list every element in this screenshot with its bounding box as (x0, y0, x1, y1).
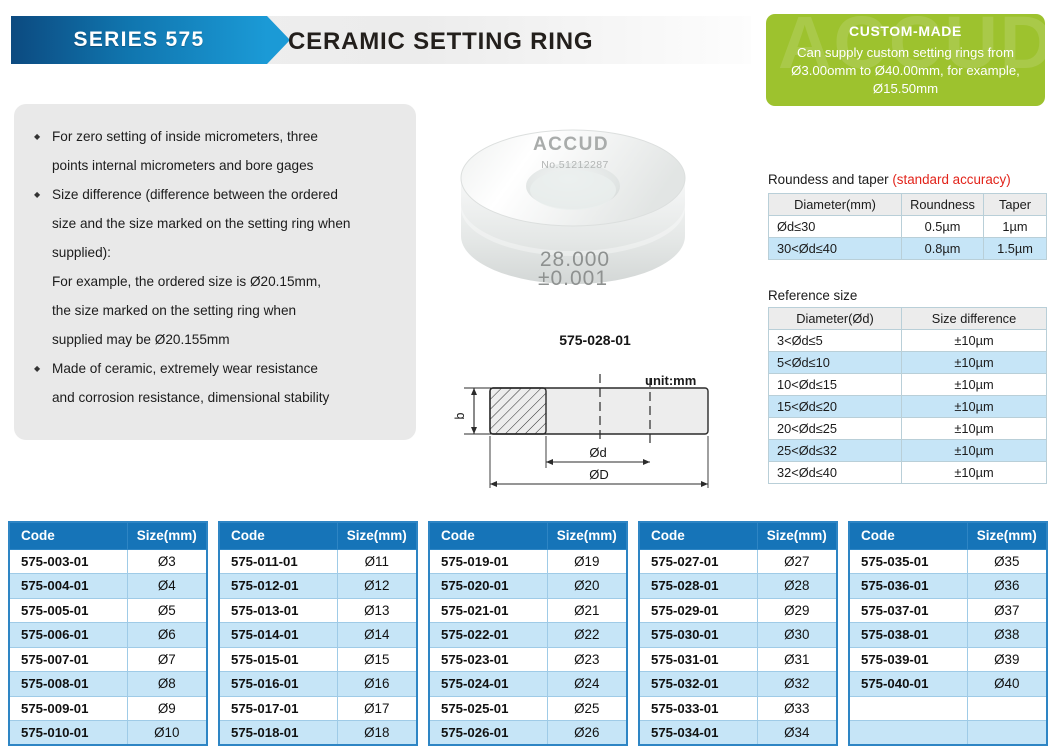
product-size-cell: Ø6 (127, 623, 207, 648)
product-size-cell: Ø17 (337, 696, 417, 721)
table-cell: 1.5µm (984, 238, 1047, 260)
table-row[interactable]: 575-031-01Ø31 (639, 647, 837, 672)
table-row: 15<Ød≤20±10µm (769, 396, 1047, 418)
product-size-cell: Ø35 (967, 549, 1047, 574)
table-cell: ±10µm (902, 374, 1047, 396)
table-row[interactable]: 575-024-01Ø24 (429, 672, 627, 697)
table-cell: 15<Ød≤20 (769, 396, 902, 418)
table-cell: ±10µm (902, 440, 1047, 462)
table-header-row: CodeSize(mm) (9, 522, 207, 549)
feature-list: For zero setting of inside micrometers, … (14, 104, 416, 440)
roundness-title-text: Roundess and taper (768, 172, 892, 187)
column-header: Size difference (902, 308, 1047, 330)
table-row: 25<Ød≤32±10µm (769, 440, 1047, 462)
table-row[interactable]: 575-033-01Ø33 (639, 696, 837, 721)
column-header: Diameter(Ød) (769, 308, 902, 330)
product-code-cell[interactable]: 575-022-01 (429, 623, 547, 648)
product-size-cell: Ø20 (547, 574, 627, 599)
cross-section-diagram: b Ød ØD (452, 368, 742, 496)
table-cell: ±10µm (902, 462, 1047, 484)
table-cell: 30<Ød≤40 (769, 238, 902, 260)
product-size-cell: Ø15 (337, 647, 417, 672)
code-size-table: CodeSize(mm)575-035-01Ø35575-036-01Ø3657… (848, 521, 1048, 746)
product-code-cell[interactable]: 575-034-01 (639, 721, 757, 746)
product-code-cell[interactable]: 575-016-01 (219, 672, 337, 697)
table-row[interactable]: 575-004-01Ø4 (9, 574, 207, 599)
product-code-cell[interactable]: 575-039-01 (849, 647, 967, 672)
product-code-cell[interactable] (849, 721, 967, 746)
feature-continuation-line: and corrosion resistance, dimensional st… (32, 383, 400, 412)
product-size-cell: Ø21 (547, 598, 627, 623)
table-row[interactable]: 575-028-01Ø28 (639, 574, 837, 599)
product-size-cell: Ø25 (547, 696, 627, 721)
table-cell: 32<Ød≤40 (769, 462, 902, 484)
table-header-row: CodeSize(mm) (849, 522, 1047, 549)
product-size-cell: Ø28 (757, 574, 837, 599)
product-size-cell: Ø5 (127, 598, 207, 623)
table-header-row: Diameter(mm)RoundnessTaper (769, 194, 1047, 216)
size-column-header: Size(mm) (757, 522, 837, 549)
product-code-cell[interactable]: 575-025-01 (429, 696, 547, 721)
table-header-row: CodeSize(mm) (429, 522, 627, 549)
table-header-row: CodeSize(mm) (219, 522, 417, 549)
custom-made-box: ACCUD CUSTOM-MADE Can supply custom sett… (766, 14, 1045, 106)
product-size-cell: Ø30 (757, 623, 837, 648)
product-code-cell[interactable]: 575-007-01 (9, 647, 127, 672)
table-row[interactable]: 575-029-01Ø29 (639, 598, 837, 623)
table-cell: Ød≤30 (769, 216, 902, 238)
dim-D-label: ØD (589, 467, 609, 482)
feature-continuation-line: supplied): (32, 238, 400, 267)
product-code-cell[interactable]: 575-029-01 (639, 598, 757, 623)
product-code-cell[interactable]: 575-040-01 (849, 672, 967, 697)
column-header: Diameter(mm) (769, 194, 902, 216)
feature-continuation-line: the size marked on the setting ring when (32, 296, 400, 325)
product-code-cell[interactable]: 575-011-01 (219, 549, 337, 574)
product-size-cell: Ø22 (547, 623, 627, 648)
table-row[interactable]: 575-036-01Ø36 (849, 574, 1047, 599)
product-photo: ACCUD No.51212287 28.000 ±0.001 (445, 108, 745, 323)
series-label: SERIES 575 (74, 28, 205, 52)
product-code-cell[interactable]: 575-024-01 (429, 672, 547, 697)
table-row[interactable]: 575-003-01Ø3 (9, 549, 207, 574)
product-code-cell[interactable]: 575-019-01 (429, 549, 547, 574)
table-row[interactable]: 575-023-01Ø23 (429, 647, 627, 672)
product-code-cell[interactable]: 575-015-01 (219, 647, 337, 672)
product-size-cell: Ø34 (757, 721, 837, 746)
table-row[interactable]: 575-025-01Ø25 (429, 696, 627, 721)
product-size-cell: Ø16 (337, 672, 417, 697)
table-row: Ød≤300.5µm1µm (769, 216, 1047, 238)
table-row[interactable]: 575-035-01Ø35 (849, 549, 1047, 574)
dim-b-label: b (453, 412, 467, 419)
table-row[interactable]: 575-039-01Ø39 (849, 647, 1047, 672)
product-code-cell[interactable]: 575-018-01 (219, 721, 337, 746)
code-column-header: Code (429, 522, 547, 549)
table-row[interactable]: 575-030-01Ø30 (639, 623, 837, 648)
table-row[interactable]: 575-038-01Ø38 (849, 623, 1047, 648)
table-row[interactable]: 575-005-01Ø5 (9, 598, 207, 623)
custom-made-title: CUSTOM-MADE (776, 23, 1035, 39)
product-code-cell[interactable]: 575-012-01 (219, 574, 337, 599)
table-row[interactable]: 575-008-01Ø8 (9, 672, 207, 697)
product-size-cell: Ø18 (337, 721, 417, 746)
table-row[interactable]: 575-012-01Ø12 (219, 574, 417, 599)
engraving-serial: No.51212287 (541, 159, 608, 171)
product-code-cell[interactable]: 575-005-01 (9, 598, 127, 623)
table-cell: ±10µm (902, 330, 1047, 352)
product-size-cell: Ø36 (967, 574, 1047, 599)
table-row[interactable]: 575-017-01Ø17 (219, 696, 417, 721)
product-code-cell[interactable]: 575-020-01 (429, 574, 547, 599)
table-row: 5<Ød≤10±10µm (769, 352, 1047, 374)
product-code-cell[interactable]: 575-031-01 (639, 647, 757, 672)
column-header: Roundness (902, 194, 984, 216)
product-size-cell: Ø11 (337, 549, 417, 574)
table-row[interactable]: 575-014-01Ø14 (219, 623, 417, 648)
feature-bullet-item: Made of ceramic, extremely wear resistan… (32, 354, 400, 383)
product-code-cell[interactable]: 575-026-01 (429, 721, 547, 746)
table-row[interactable]: 575-016-01Ø16 (219, 672, 417, 697)
table-header-row: CodeSize(mm) (639, 522, 837, 549)
product-code-cell[interactable]: 575-003-01 (9, 549, 127, 574)
product-code-cell[interactable]: 575-030-01 (639, 623, 757, 648)
size-column-header: Size(mm) (127, 522, 207, 549)
table-row[interactable]: 575-015-01Ø15 (219, 647, 417, 672)
technical-drawing: b Ød ØD (452, 368, 742, 496)
product-code-cell[interactable]: 575-038-01 (849, 623, 967, 648)
table-cell: ±10µm (902, 396, 1047, 418)
product-size-cell: Ø33 (757, 696, 837, 721)
code-column-header: Code (219, 522, 337, 549)
product-size-cell: Ø31 (757, 647, 837, 672)
table-row: 30<Ød≤400.8µm1.5µm (769, 238, 1047, 260)
size-column-header: Size(mm) (547, 522, 627, 549)
series-tag: SERIES 575 (11, 16, 267, 64)
catalog-page: SERIES 575 CERAMIC SETTING RING ACCUD CU… (0, 0, 1056, 746)
table-row[interactable]: 575-018-01Ø18 (219, 721, 417, 746)
table-header-row: Diameter(Ød)Size difference (769, 308, 1047, 330)
custom-made-description: Can supply custom setting rings from Ø3.… (776, 44, 1035, 98)
table-cell: ±10µm (902, 352, 1047, 374)
table-row[interactable]: 575-011-01Ø11 (219, 549, 417, 574)
table-row: 32<Ød≤40±10µm (769, 462, 1047, 484)
table-row[interactable]: 575-040-01Ø40 (849, 672, 1047, 697)
product-size-cell: Ø7 (127, 647, 207, 672)
product-size-cell: Ø12 (337, 574, 417, 599)
product-size-cell: Ø38 (967, 623, 1047, 648)
product-caption: 575-028-01 (445, 332, 745, 348)
product-size-cell: Ø10 (127, 721, 207, 746)
table-cell: 0.8µm (902, 238, 984, 260)
feature-bullet-item: Size difference (difference between the … (32, 180, 400, 209)
column-header: Taper (984, 194, 1047, 216)
product-code-cell[interactable]: 575-010-01 (9, 721, 127, 746)
code-size-table: CodeSize(mm)575-019-01Ø19575-020-01Ø2057… (428, 521, 628, 746)
feature-continuation-line: points internal micrometers and bore gag… (32, 151, 400, 180)
feature-continuation-line: supplied may be Ø20.155mm (32, 325, 400, 354)
engraving-brand: ACCUD (533, 134, 609, 155)
product-code-cell[interactable]: 575-027-01 (639, 549, 757, 574)
product-size-cell: Ø39 (967, 647, 1047, 672)
product-size-cell: Ø40 (967, 672, 1047, 697)
product-size-cell: Ø29 (757, 598, 837, 623)
feature-continuation-line: For example, the ordered size is Ø20.15m… (32, 267, 400, 296)
product-size-cell: Ø3 (127, 549, 207, 574)
table-cell: 25<Ød≤32 (769, 440, 902, 462)
code-size-table: CodeSize(mm)575-027-01Ø27575-028-01Ø2857… (638, 521, 838, 746)
table-row[interactable]: 575-007-01Ø7 (9, 647, 207, 672)
product-size-cell: Ø19 (547, 549, 627, 574)
table-row[interactable]: 575-020-01Ø20 (429, 574, 627, 599)
product-size-cell: Ø13 (337, 598, 417, 623)
code-tables-container: CodeSize(mm)575-003-01Ø3575-004-01Ø4575-… (8, 521, 1048, 746)
engraving-tolerance: ±0.001 (538, 267, 608, 290)
table-cell: 3<Ød≤5 (769, 330, 902, 352)
product-size-cell: Ø9 (127, 696, 207, 721)
product-code-cell[interactable]: 575-006-01 (9, 623, 127, 648)
product-code-cell[interactable]: 575-017-01 (219, 696, 337, 721)
table-row[interactable]: 575-013-01Ø13 (219, 598, 417, 623)
feature-continuation-line: size and the size marked on the setting … (32, 209, 400, 238)
product-size-cell: Ø4 (127, 574, 207, 599)
size-column-header: Size(mm) (967, 522, 1047, 549)
code-column-header: Code (9, 522, 127, 549)
roundness-title-accent: (standard accuracy) (892, 172, 1010, 187)
table-row[interactable] (849, 721, 1047, 746)
table-row[interactable]: 575-010-01Ø10 (9, 721, 207, 746)
product-size-cell: Ø24 (547, 672, 627, 697)
product-size-cell: Ø37 (967, 598, 1047, 623)
roundness-taper-table: Diameter(mm)RoundnessTaperØd≤300.5µm1µm3… (768, 193, 1047, 260)
size-column-header: Size(mm) (337, 522, 417, 549)
product-code-cell[interactable]: 575-037-01 (849, 598, 967, 623)
product-size-cell: Ø14 (337, 623, 417, 648)
product-code-cell[interactable]: 575-028-01 (639, 574, 757, 599)
product-size-cell: Ø32 (757, 672, 837, 697)
table-row[interactable]: 575-019-01Ø19 (429, 549, 627, 574)
table-cell: 1µm (984, 216, 1047, 238)
product-code-cell[interactable]: 575-014-01 (219, 623, 337, 648)
product-size-cell: Ø26 (547, 721, 627, 746)
table-cell: 5<Ød≤10 (769, 352, 902, 374)
table-row[interactable]: 575-021-01Ø21 (429, 598, 627, 623)
product-code-cell[interactable] (849, 696, 967, 721)
code-size-table: CodeSize(mm)575-011-01Ø11575-012-01Ø1257… (218, 521, 418, 746)
table-row: 3<Ød≤5±10µm (769, 330, 1047, 352)
product-size-cell (967, 696, 1047, 721)
code-size-table: CodeSize(mm)575-003-01Ø3575-004-01Ø4575-… (8, 521, 208, 746)
code-column-header: Code (639, 522, 757, 549)
table-cell: ±10µm (902, 418, 1047, 440)
table-row[interactable]: 575-037-01Ø37 (849, 598, 1047, 623)
table-row[interactable]: 575-032-01Ø32 (639, 672, 837, 697)
code-column-header: Code (849, 522, 967, 549)
product-code-cell[interactable]: 575-036-01 (849, 574, 967, 599)
reference-size-table: Diameter(Ød)Size difference3<Ød≤5±10µm5<… (768, 307, 1047, 484)
product-code-cell[interactable]: 575-004-01 (9, 574, 127, 599)
product-size-cell: Ø8 (127, 672, 207, 697)
table-row[interactable]: 575-027-01Ø27 (639, 549, 837, 574)
product-size-cell (967, 721, 1047, 746)
table-row: 20<Ød≤25±10µm (769, 418, 1047, 440)
product-code-cell[interactable]: 575-033-01 (639, 696, 757, 721)
table-cell: 10<Ød≤15 (769, 374, 902, 396)
table-row[interactable] (849, 696, 1047, 721)
product-code-cell[interactable]: 575-008-01 (9, 672, 127, 697)
page-title: CERAMIC SETTING RING (288, 28, 593, 56)
table-row[interactable]: 575-009-01Ø9 (9, 696, 207, 721)
product-code-cell[interactable]: 575-009-01 (9, 696, 127, 721)
table-cell: 20<Ød≤25 (769, 418, 902, 440)
reference-table-title: Reference size (768, 288, 857, 303)
product-size-cell: Ø23 (547, 647, 627, 672)
product-code-cell[interactable]: 575-035-01 (849, 549, 967, 574)
feature-bullet-item: For zero setting of inside micrometers, … (32, 122, 400, 151)
product-code-cell[interactable]: 575-013-01 (219, 598, 337, 623)
table-row[interactable]: 575-022-01Ø22 (429, 623, 627, 648)
product-code-cell[interactable]: 575-021-01 (429, 598, 547, 623)
table-row[interactable]: 575-026-01Ø26 (429, 721, 627, 746)
table-row[interactable]: 575-034-01Ø34 (639, 721, 837, 746)
table-cell: 0.5µm (902, 216, 984, 238)
product-size-cell: Ø27 (757, 549, 837, 574)
roundness-table-title: Roundess and taper (standard accuracy) (768, 172, 1011, 187)
table-row: 10<Ød≤15±10µm (769, 374, 1047, 396)
ceramic-ring-image: ACCUD No.51212287 28.000 ±0.001 (445, 108, 745, 323)
dim-d-label: Ød (589, 445, 606, 460)
product-code-cell[interactable]: 575-032-01 (639, 672, 757, 697)
product-code-cell[interactable]: 575-023-01 (429, 647, 547, 672)
table-row[interactable]: 575-006-01Ø6 (9, 623, 207, 648)
